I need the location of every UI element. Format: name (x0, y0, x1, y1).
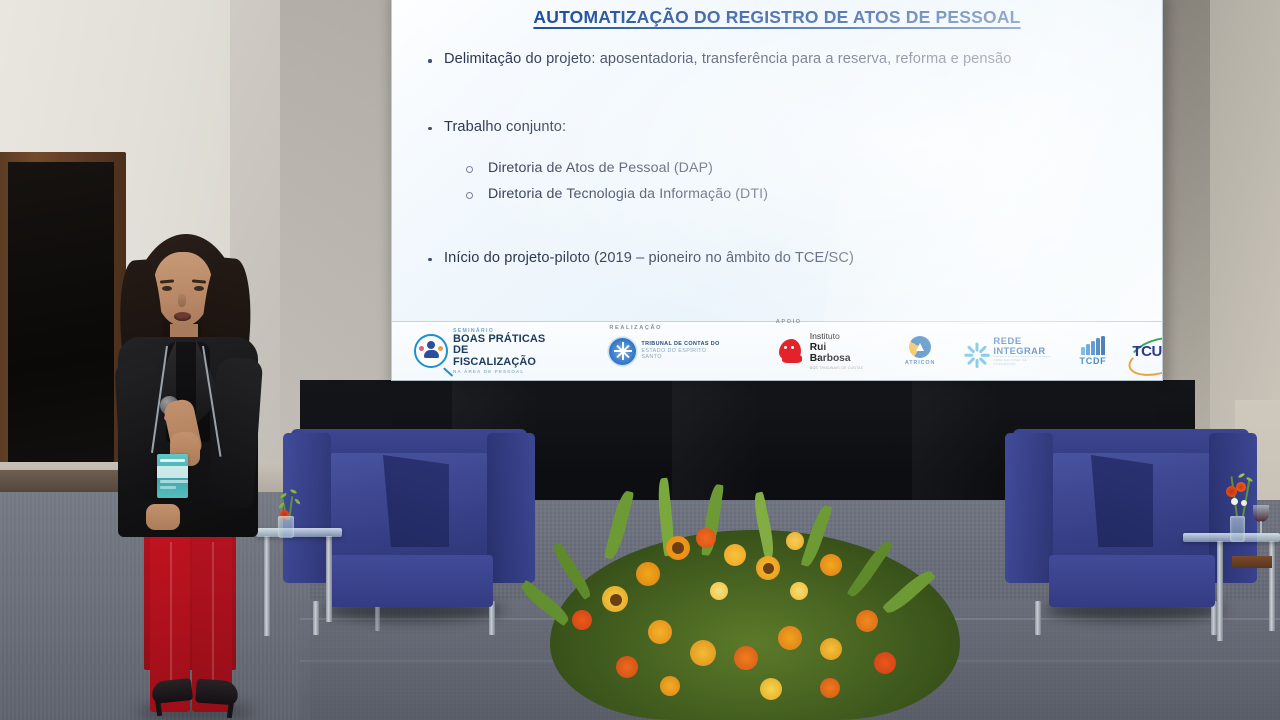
slide-logo-bar: SEMINÁRIO BOAS PRÁTICAS DE FISCALIZAÇÃO … (392, 321, 1162, 380)
atricon-icon (909, 336, 931, 358)
tce-org-line2: ESTADO DO ESPÍRITO SANTO (641, 348, 727, 362)
bullet-item: Trabalho conjunto: (422, 118, 1148, 138)
realizacao-label: REALIZAÇÃO (609, 325, 662, 331)
floral-arrangement (520, 470, 990, 720)
irb-line2: Rui Barbosa (810, 342, 869, 365)
rede-line2: INTEGRAR (993, 346, 1049, 356)
vase-left (278, 490, 308, 538)
slide-body: Delimitação do projeto: aposentadoria, t… (422, 50, 1148, 274)
tcdf-label: TCDF (1080, 356, 1107, 366)
logo-seminario: SEMINÁRIO BOAS PRÁTICAS DE FISCALIZAÇÃO … (414, 328, 553, 375)
magnifier-people-icon (414, 334, 448, 368)
rui-barbosa-face-icon (776, 337, 806, 365)
bullet-item: Delimitação do projeto: aposentadoria, t… (422, 50, 1148, 70)
seminario-subtitle: NA ÁREA DE PESSOAL (453, 369, 553, 374)
tcu-label: TCU (1132, 343, 1162, 360)
side-shelf (1232, 556, 1272, 568)
slide-title: AUTOMATIZAÇÃO DO REGISTRO DE ATOS DE PES… (392, 7, 1162, 28)
irb-subtitle: DOS TRIBUNAIS DE CONTAS (810, 366, 869, 370)
seminario-line2: DE FISCALIZAÇÃO (453, 345, 553, 368)
conference-badge (157, 454, 188, 498)
projection-screen: AUTOMATIZAÇÃO DO REGISTRO DE ATOS DE PES… (392, 0, 1162, 380)
rede-integrar-icon (965, 339, 989, 363)
vase-right (1222, 472, 1262, 542)
logo-apoio: APOIO Instituto Rui Barbosa DOS TRIBUNAI… (776, 332, 869, 369)
logo-tcdf: TCDF (1080, 336, 1107, 366)
seminario-line1: BOAS PRÁTICAS (453, 334, 553, 346)
logo-realizacao: REALIZAÇÃO TRIBUNAL DE CONTAS DO ESTADO … (609, 338, 727, 365)
sub-bullet-item: Diretoria de Atos de Pessoal (DAP) (422, 159, 1148, 179)
tce-es-seal-icon (609, 338, 636, 365)
rede-subtitle: REDE NACIONAL DE INTEGRAÇÃO (993, 356, 1049, 366)
side-table-right (1183, 533, 1280, 643)
logo-rede-integrar: REDE INTEGRAR REDE NACIONAL DE INTEGRAÇÃ… (965, 336, 1049, 366)
atricon-label: ATRICON (905, 360, 935, 366)
speaker (96, 232, 276, 720)
tcdf-bars-icon (1081, 336, 1104, 355)
logo-atricon: ATRICON (905, 336, 935, 366)
apoio-label: APOIO (776, 319, 802, 325)
logo-tcu: TCU (1132, 343, 1162, 360)
wall-shadow (280, 0, 400, 440)
irb-line1: Instituto (810, 332, 869, 342)
presentation-photo: AUTOMATIZAÇÃO DO REGISTRO DE ATOS DE PES… (0, 0, 1280, 720)
sub-bullet-item: Diretoria de Tecnologia da Informação (D… (422, 185, 1148, 205)
hand-holding-badge (146, 504, 180, 530)
tce-org-line1: TRIBUNAL DE CONTAS DO (641, 341, 727, 348)
bullet-item: Início do projeto-piloto (2019 – pioneir… (422, 249, 1148, 269)
